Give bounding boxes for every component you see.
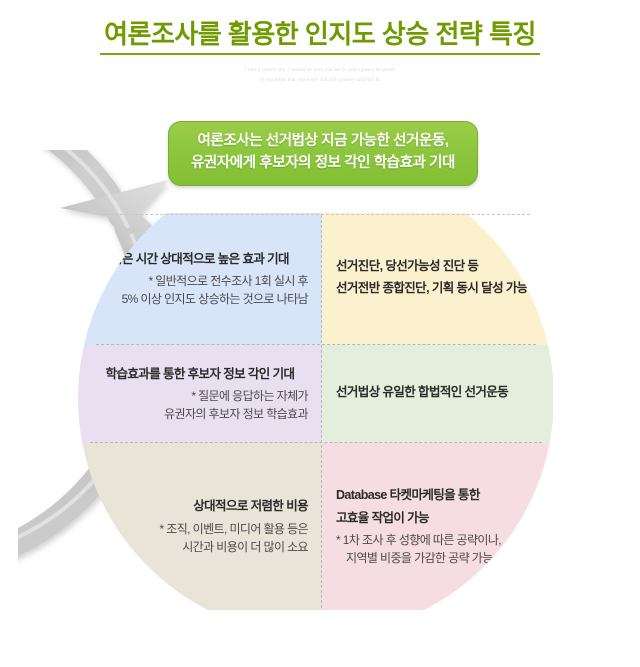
feature-heading: 선거법상 유일한 합법적인 선거운동 — [336, 383, 539, 401]
page-title-wrap: 여론조사를 활용한 인지도 상승 전략 특징 — [0, 20, 640, 55]
feature-heading-2: 고효율 작업이 가능 — [336, 509, 539, 527]
feature-body-line: 유권자의 후보자 정보 학습효과 — [92, 405, 308, 423]
feature-body-line: * 질문에 응답하는 자체가 — [92, 387, 308, 405]
subtitle-line-1: Color a lover's sky. I wanna be with you… — [0, 66, 640, 76]
page-title: 여론조사를 활용한 인지도 상승 전략 특징 — [100, 20, 540, 55]
page-subtitle: Color a lover's sky. I wanna be with you… — [0, 66, 640, 85]
feature-cell-purple[interactable]: 학습효과를 통한 후보자 정보 각인 기대 * 질문에 응답하는 자체가 유권자… — [78, 345, 322, 443]
feature-body-line: * 조직, 이벤트, 미디어 활용 등은 — [92, 520, 308, 538]
feature-heading: 선거진단, 당선가능성 진단 등 — [336, 257, 539, 275]
feature-cell-green[interactable]: 선거법상 유일한 합법적인 선거운동 — [322, 345, 553, 443]
feature-heading: 상대적으로 저렴한 비용 — [92, 497, 308, 515]
features-grid: 짧은 시간 상대적으로 높은 효과 기대 * 일반적으로 전수조사 1회 실시 … — [78, 213, 553, 610]
callout-line-1: 여론조사는 선거법상 지금 가능한 선거운동, — [179, 131, 467, 153]
feature-body: * 일반적으로 전수조사 1회 실시 후 5% 이상 인지도 상승하는 것으로 … — [92, 272, 308, 308]
callout-line-2: 유권자에게 후보자의 정보 각인 학습효과 기대 — [179, 153, 467, 175]
feature-body: * 질문에 응답하는 자체가 유권자의 후보자 정보 학습효과 — [92, 387, 308, 423]
feature-heading: Database 타켓마케팅을 통한 — [336, 486, 539, 504]
summary-callout[interactable]: 여론조사는 선거법상 지금 가능한 선거운동, 유권자에게 후보자의 정보 각인… — [168, 121, 478, 186]
feature-heading: 학습효과를 통한 후보자 정보 각인 기대 — [92, 365, 308, 383]
feature-body-line: 5% 이상 인지도 상승하는 것으로 나타남 — [92, 290, 308, 308]
subtitle-line-2: If you think that you won't fall fall jo… — [0, 76, 640, 86]
infographic-page: 여론조사를 활용한 인지도 상승 전략 특징 Color a lover's s… — [0, 0, 640, 667]
feature-body-line: * 일반적으로 전수조사 1회 실시 후 — [92, 272, 308, 290]
feature-heading-2: 선거전반 종합진단, 기획 동시 달성 가능 — [336, 279, 539, 297]
